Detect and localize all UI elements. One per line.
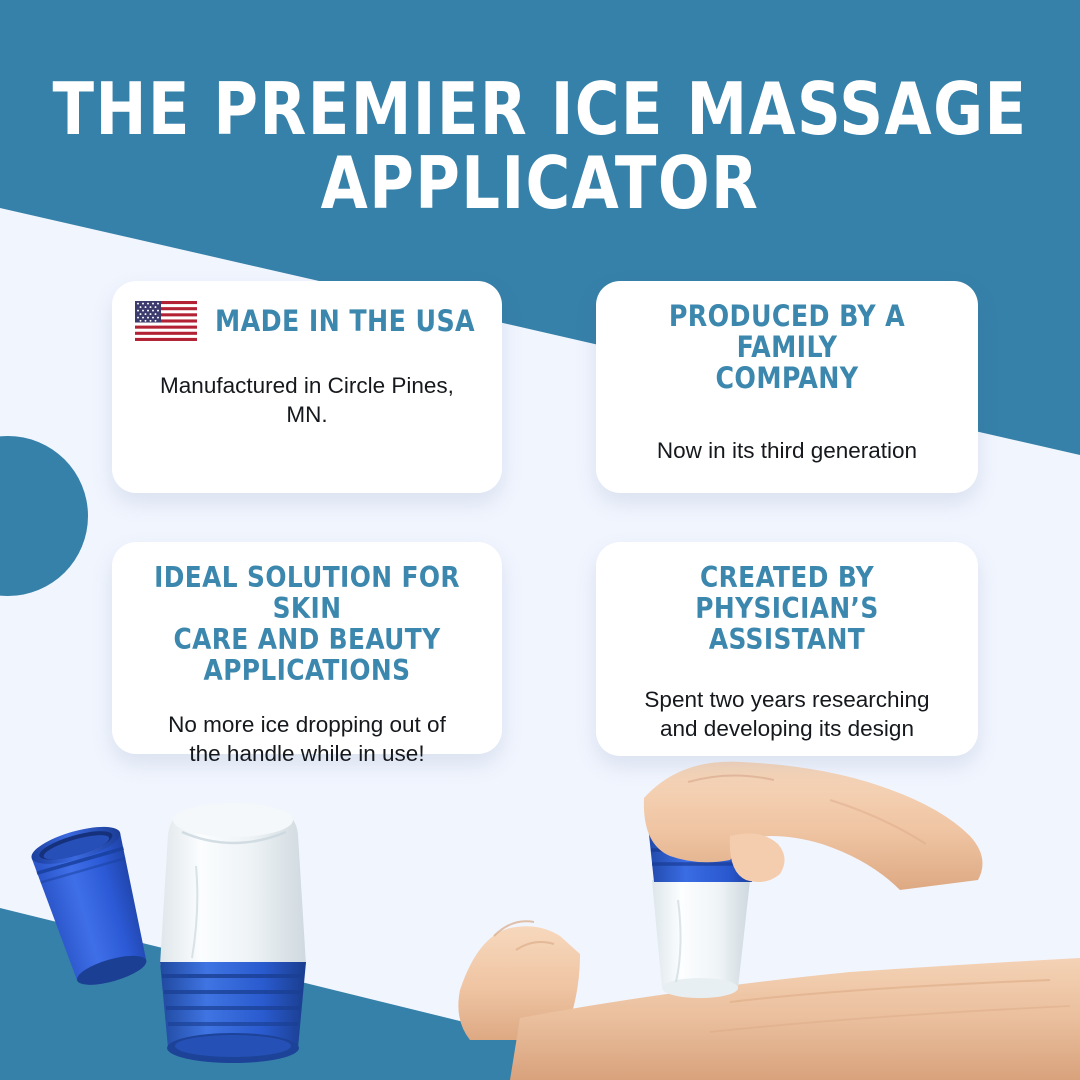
card-title-line: PRODUCED BY A FAMILY bbox=[623, 301, 951, 363]
forearm bbox=[510, 958, 1080, 1080]
card-title-line: CARE AND BEAUTY bbox=[139, 624, 475, 655]
card-heading-row: PRODUCED BY A FAMILY COMPANY bbox=[618, 301, 956, 394]
card-body-line: and developing its design bbox=[644, 714, 929, 743]
card-title: PRODUCED BY A FAMILY COMPANY bbox=[623, 301, 951, 394]
card-body-line: Spent two years researching bbox=[644, 685, 929, 714]
card-heading-row: IDEAL SOLUTION FOR SKIN CARE AND BEAUTY … bbox=[134, 562, 480, 686]
product-photo-hand-applying-ice-cup-to-forearm bbox=[430, 740, 1080, 1080]
title-line-2: APPLICATOR bbox=[32, 146, 1047, 220]
card-title-line: CREATED BY PHYSICIAN’S bbox=[623, 562, 951, 624]
card-body-line: MN. bbox=[160, 400, 454, 429]
card-body-line: the handle while in use! bbox=[168, 739, 446, 768]
card-title-line: MADE IN THE USA bbox=[215, 306, 475, 337]
hand-and-forearm-illustration bbox=[430, 740, 1080, 1080]
card-body-line: Manufactured in Circle Pines, bbox=[160, 371, 454, 400]
feature-card-physicians-assistant: CREATED BY PHYSICIAN’S ASSISTANT Spent t… bbox=[596, 542, 978, 756]
card-heading-row: CREATED BY PHYSICIAN’S ASSISTANT bbox=[618, 562, 956, 655]
card-body: Manufactured in Circle Pines, MN. bbox=[160, 371, 454, 429]
card-title-line: COMPANY bbox=[623, 363, 951, 394]
card-body: Spent two years researching and developi… bbox=[644, 685, 929, 743]
infographic-canvas: THE PREMIER ICE MASSAGE APPLICATOR bbox=[0, 0, 1080, 1080]
us-flag-icon bbox=[135, 301, 197, 341]
card-heading-row: MADE IN THE USA bbox=[134, 301, 480, 341]
card-body-line: No more ice dropping out of bbox=[168, 710, 446, 739]
card-title-line: IDEAL SOLUTION FOR SKIN bbox=[139, 562, 475, 624]
card-body: No more ice dropping out of the handle w… bbox=[168, 710, 446, 768]
card-title: IDEAL SOLUTION FOR SKIN CARE AND BEAUTY … bbox=[139, 562, 475, 686]
card-title-line: ASSISTANT bbox=[623, 624, 951, 655]
blue-cup-tilted bbox=[28, 819, 159, 993]
card-title: CREATED BY PHYSICIAN’S ASSISTANT bbox=[623, 562, 951, 655]
feature-card-skin-care-beauty: IDEAL SOLUTION FOR SKIN CARE AND BEAUTY … bbox=[112, 542, 502, 754]
ice-cup-upright bbox=[160, 803, 306, 1063]
feature-card-family-company: PRODUCED BY A FAMILY COMPANY Now in its … bbox=[596, 281, 978, 493]
page-title: THE PREMIER ICE MASSAGE APPLICATOR bbox=[0, 72, 1080, 220]
title-line-1: THE PREMIER ICE MASSAGE bbox=[32, 72, 1047, 146]
card-body-line: Now in its third generation bbox=[657, 436, 917, 465]
card-title: MADE IN THE USA bbox=[215, 306, 475, 337]
feature-card-made-in-usa: MADE IN THE USA Manufactured in Circle P… bbox=[112, 281, 502, 493]
card-body: Now in its third generation bbox=[657, 436, 917, 465]
card-title-line: APPLICATIONS bbox=[139, 655, 475, 686]
